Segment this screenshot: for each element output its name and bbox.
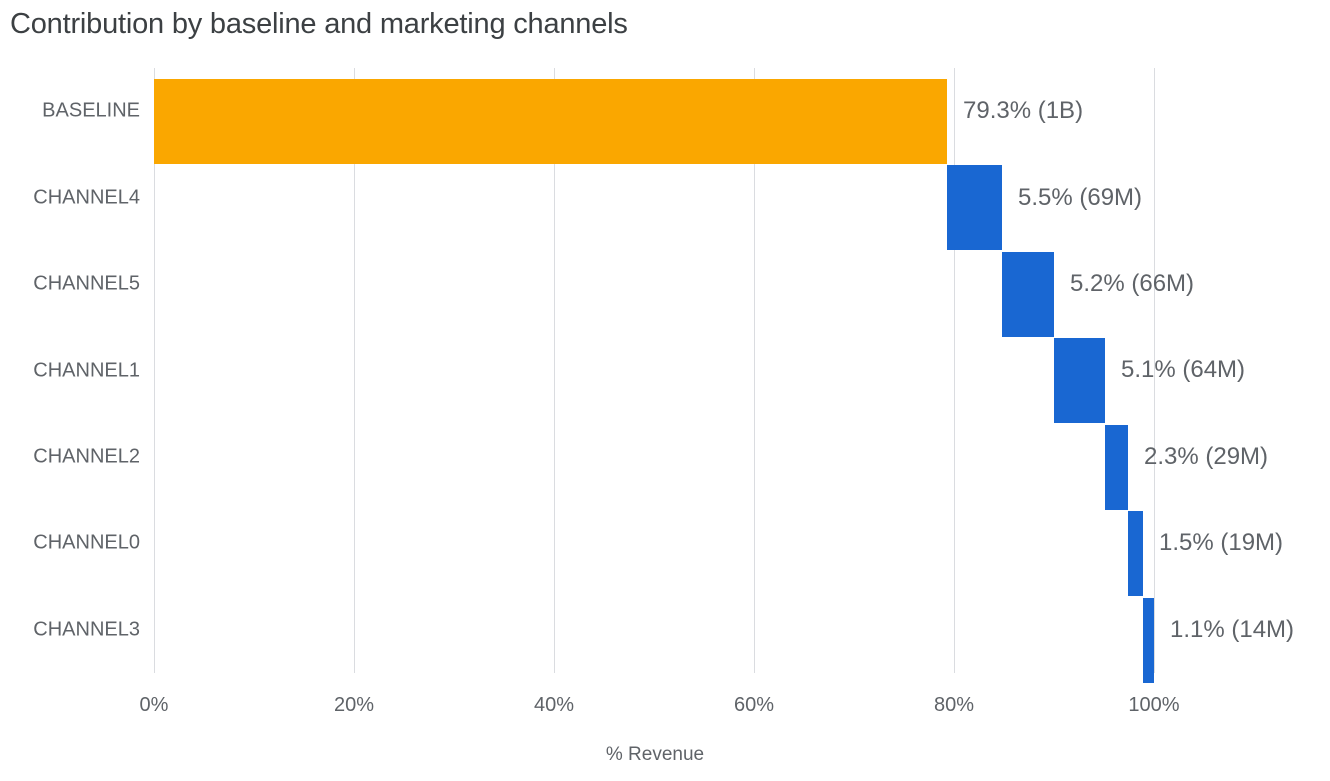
bar-row: 1.1% (14M) bbox=[154, 587, 1154, 673]
y-tick-label-channel1: CHANNEL1 bbox=[33, 359, 140, 382]
bar-channel5[interactable] bbox=[1002, 252, 1054, 337]
plot-area: 79.3% (1B)5.5% (69M)5.2% (66M)5.1% (64M)… bbox=[154, 68, 1154, 673]
bar-channel2[interactable] bbox=[1105, 425, 1128, 510]
bar-row: 79.3% (1B) bbox=[154, 68, 1154, 154]
bar-value-label-channel1: 5.1% (64M) bbox=[1121, 356, 1245, 384]
chart-title: Contribution by baseline and marketing c… bbox=[10, 8, 628, 41]
x-tick-label-80: 80% bbox=[934, 694, 974, 717]
bar-row: 5.1% (64M) bbox=[154, 327, 1154, 413]
y-tick-label-channel3: CHANNEL3 bbox=[33, 618, 140, 641]
bar-value-label-channel5: 5.2% (66M) bbox=[1070, 270, 1194, 298]
x-tick-label-0: 0% bbox=[140, 694, 169, 717]
y-tick-label-channel4: CHANNEL4 bbox=[33, 186, 140, 209]
bar-row: 5.5% (69M) bbox=[154, 154, 1154, 240]
bar-channel0[interactable] bbox=[1128, 511, 1143, 596]
bar-channel3[interactable] bbox=[1143, 598, 1154, 683]
bar-value-label-channel2: 2.3% (29M) bbox=[1144, 443, 1268, 471]
x-tick-label-20: 20% bbox=[334, 694, 374, 717]
bar-value-label-channel4: 5.5% (69M) bbox=[1018, 184, 1142, 212]
bar-value-label-channel3: 1.1% (14M) bbox=[1170, 616, 1294, 644]
x-tick-label-40: 40% bbox=[534, 694, 574, 717]
bar-value-label-channel0: 1.5% (19M) bbox=[1159, 529, 1283, 557]
x-axis-title: % Revenue bbox=[0, 744, 1310, 766]
y-tick-label-channel5: CHANNEL5 bbox=[33, 273, 140, 296]
bar-row: 5.2% (66M) bbox=[154, 241, 1154, 327]
y-tick-label-channel0: CHANNEL0 bbox=[33, 532, 140, 555]
x-tick-label-60: 60% bbox=[734, 694, 774, 717]
bar-row: 2.3% (29M) bbox=[154, 414, 1154, 500]
y-tick-label-channel2: CHANNEL2 bbox=[33, 445, 140, 468]
bar-baseline[interactable] bbox=[154, 79, 947, 164]
bar-channel4[interactable] bbox=[947, 165, 1002, 250]
bar-row: 1.5% (19M) bbox=[154, 500, 1154, 586]
bar-channel1[interactable] bbox=[1054, 338, 1105, 423]
bar-value-label-baseline: 79.3% (1B) bbox=[963, 97, 1083, 125]
waterfall-chart: Contribution by baseline and marketing c… bbox=[0, 0, 1330, 781]
x-tick-label-100: 100% bbox=[1128, 694, 1179, 717]
y-tick-label-baseline: BASELINE bbox=[42, 100, 140, 123]
